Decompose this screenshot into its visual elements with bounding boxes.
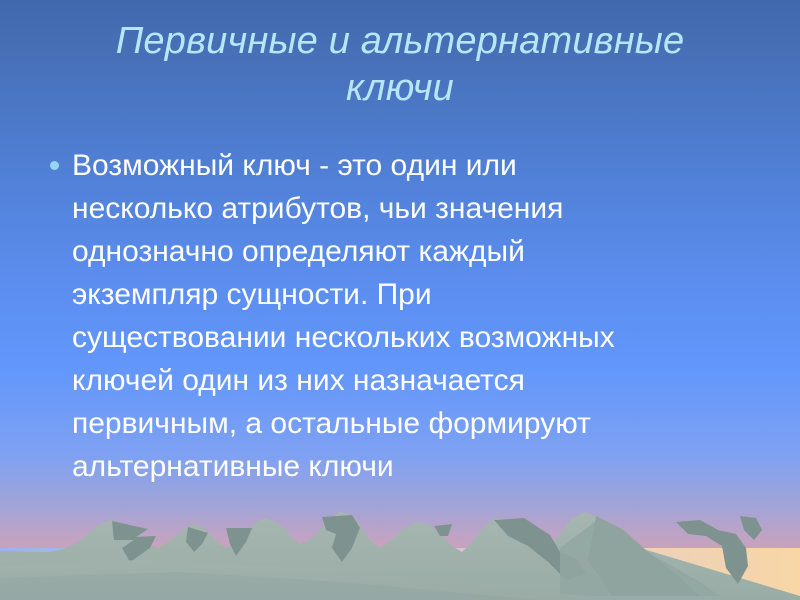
slide-body: Возможный ключ - это один или несколько … [46,144,752,488]
bullet-line: Возможный ключ - это один или [72,144,752,187]
bullet-line: альтернативные ключи [72,445,752,488]
bullet-line: существовании нескольких возможных [72,316,752,359]
bullet-line: несколько атрибутов, чьи значения [72,187,752,230]
bullet-line: первичным, а остальные формируют [72,402,752,445]
bullet-line: однозначно определяют каждый [72,230,752,273]
bullet-line: экземпляр сущности. При [72,273,752,316]
slide-title: Первичные и альтернативные ключи [40,18,760,112]
slide-title-line-2: ключи [40,65,760,112]
bullet-list-item: Возможный ключ - это один или несколько … [46,144,752,488]
bullet-item-text: Возможный ключ - это один или несколько … [72,144,752,488]
slide-title-line-1: Первичные и альтернативные [40,18,760,65]
bullet-line: ключей один из них назначается [72,359,752,402]
bullet-dot-icon [50,161,59,170]
presentation-slide: Первичные и альтернативные ключи Возможн… [0,0,800,600]
